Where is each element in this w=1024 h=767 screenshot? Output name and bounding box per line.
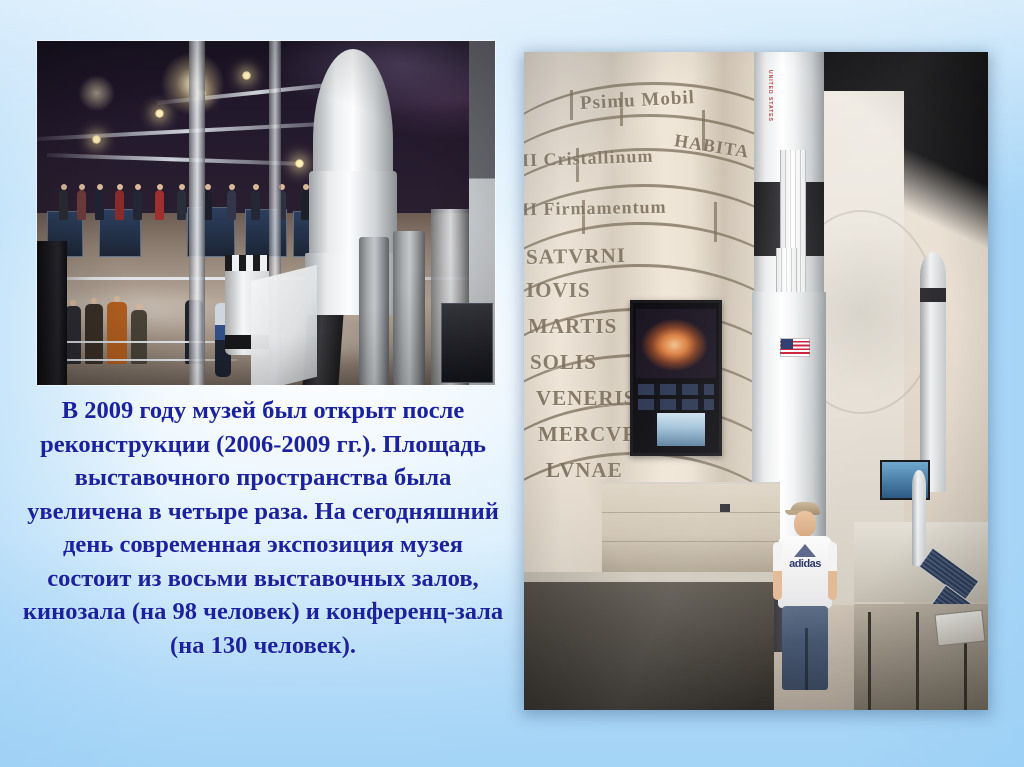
united-states-flag-icon (780, 338, 810, 357)
boy-head (794, 511, 816, 537)
display-cabinet (602, 482, 780, 576)
boy-arm-right (828, 542, 837, 600)
mural-text-saturni: SATVRNI (526, 243, 626, 270)
mural-text-lunae: LVNAE (546, 458, 623, 483)
info-placard (934, 610, 985, 647)
mural-text-firmamentum: II Firmamentum (524, 197, 667, 221)
wall-socket (720, 504, 730, 512)
slide-caption: В 2009 году музей был открыт после рекон… (20, 394, 506, 662)
rocket-red-markings: UNITED STATES (767, 70, 773, 136)
photo-saturn-v-hall: Psimu Mobil HABITA II Cristallinum II Fi… (524, 52, 988, 710)
boy-arm-left (773, 542, 782, 600)
poster-secondary-image (657, 413, 705, 446)
photo-vignette (37, 41, 495, 385)
boy-jeans (782, 606, 828, 690)
poster-caption-strip (638, 384, 714, 395)
foreground-counter (524, 572, 774, 710)
cabinet-seam (602, 512, 780, 513)
stanchion (916, 612, 919, 710)
caption-paragraph: В 2009 году музей был открыт после рекон… (20, 394, 506, 662)
poster-caption-strip (638, 399, 714, 410)
cabinet-seam (602, 541, 780, 542)
photo-saturn-v-hall-content: Psimu Mobil HABITA II Cristallinum II Fi… (524, 52, 988, 710)
mural-text-veneris: VENERIS (536, 386, 636, 411)
presentation-slide: Psimu Mobil HABITA II Cristallinum II Fi… (0, 0, 1024, 767)
adidas-wordmark: adidas (789, 558, 821, 570)
poster-rocket-launch-image (636, 309, 715, 378)
photo-museum-hall (37, 41, 495, 385)
mural-text-martis: MARTIS (528, 314, 617, 339)
counter-top-edge (524, 572, 774, 582)
secondary-rocket-band (920, 288, 946, 302)
adidas-trefoil-icon (794, 544, 816, 557)
boy-tshirt: adidas (778, 536, 832, 608)
mural-divider (570, 90, 573, 120)
mural-divider (714, 202, 717, 242)
wall-poster (630, 300, 722, 456)
mini-rocket-model (912, 470, 926, 566)
mural-text-iovis: IOVIS (526, 278, 591, 303)
photo-museum-hall-content (37, 41, 495, 385)
stanchion (868, 612, 871, 710)
visitor-boy: adidas (760, 502, 850, 710)
mural-text-solis: SOLIS (530, 350, 597, 375)
